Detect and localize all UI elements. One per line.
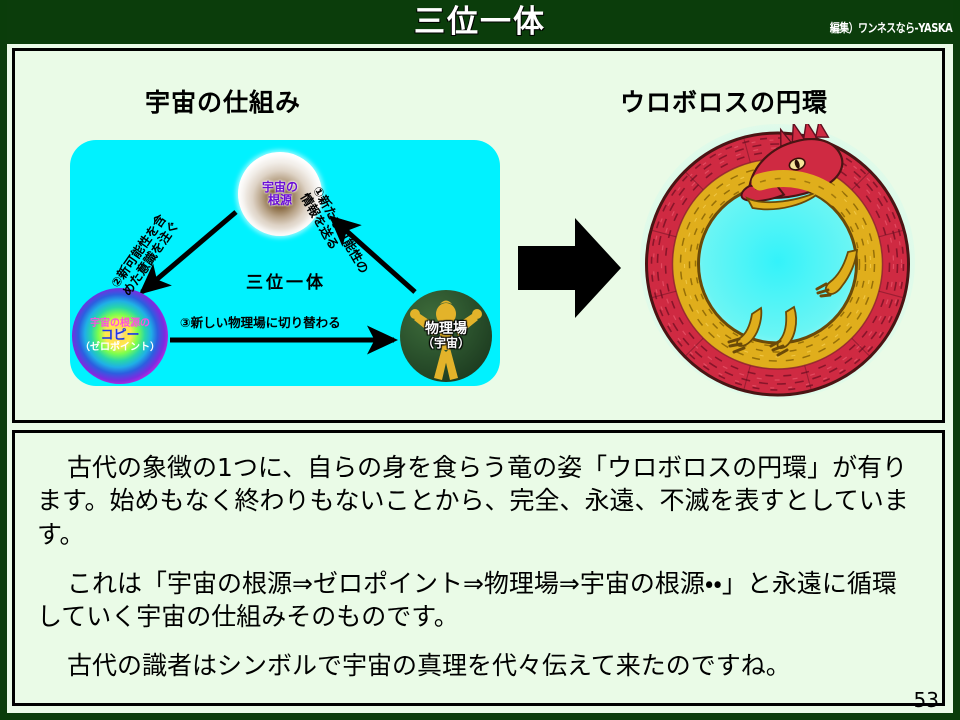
right-arrow-icon — [518, 218, 621, 318]
node-source-line2: 根源 — [268, 194, 292, 207]
node-copy-line2: コピー — [100, 329, 139, 343]
ouroboros-dragon-icon — [640, 124, 915, 399]
page-number: 53 — [914, 688, 939, 712]
body-paragraph-1: 古代の象徴の1つに、自らの身を食らう竜の姿「ウロボロスの円環」が有ります。始めも… — [37, 451, 920, 551]
node-physical-field[interactable]: 物理場 （宇宙） — [400, 290, 492, 382]
slide-root: 三位一体 編集）ワンネスなら-YASKA 宇宙の仕組み ウロボロスの円環 — [0, 0, 960, 720]
body-paragraph-2: これは「宇宙の根源⇒ゼロポイント⇒物理場⇒宇宙の根源・・」と永遠に循環していく宇… — [37, 567, 920, 634]
body-paragraph-3: 古代の識者はシンボルで宇宙の真理を代々伝えて来たのですね。 — [37, 649, 920, 682]
trinity-diagram: 宇宙の 根源 宇宙の根源の コピー （ゼロポイント） — [70, 140, 500, 386]
figure-panel: 宇宙の仕組み ウロボロスの円環 宇宙の 根源 — [12, 48, 945, 423]
body-text-panel: 古代の象徴の1つに、自らの身を食らう竜の姿「ウロボロスの円環」が有ります。始めも… — [12, 430, 945, 706]
header-credit: 編集）ワンネスなら-YASKA — [830, 19, 952, 36]
node-zero-point-copy[interactable]: 宇宙の根源の コピー （ゼロポイント） — [72, 288, 168, 384]
page-title: 三位一体 — [0, 2, 960, 42]
arrow-label-2: ②新可能性を含 めた意識を注ぐ — [108, 211, 182, 299]
heading-universe-mechanism: 宇宙の仕組み — [145, 83, 301, 119]
node-field-line2: （宇宙） — [422, 337, 470, 350]
ouroboros-illustration — [640, 124, 915, 399]
heading-ouroboros: ウロボロスの円環 — [620, 83, 828, 119]
node-copy-line3: （ゼロポイント） — [80, 343, 160, 354]
node-field-line1: 物理場 — [425, 322, 467, 337]
arrow-label-3: ③新しい物理場に切り替わる — [180, 316, 341, 330]
header-bar: 三位一体 編集）ワンネスなら-YASKA — [0, 0, 960, 44]
